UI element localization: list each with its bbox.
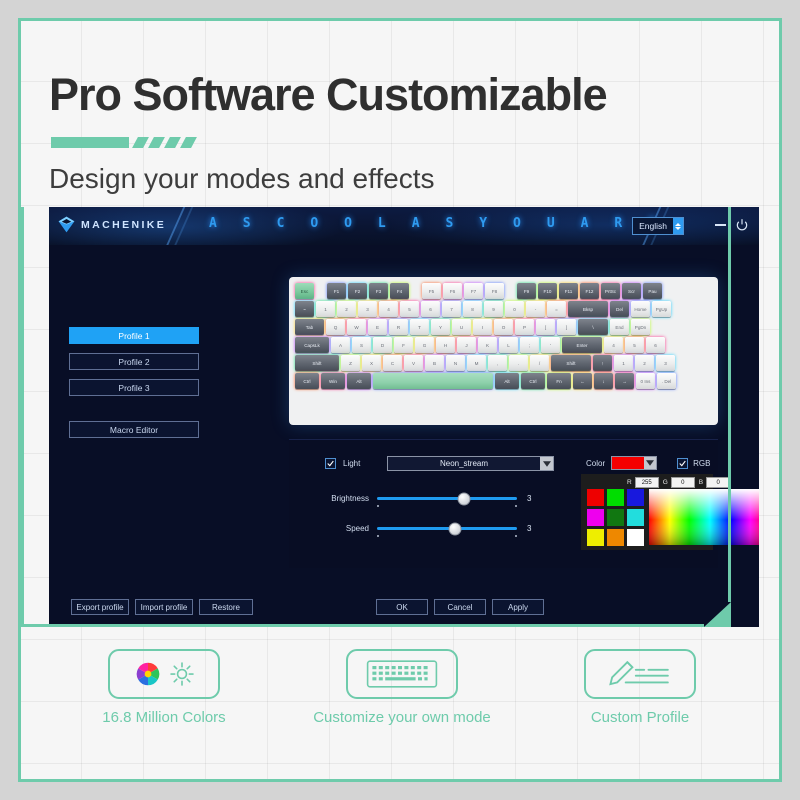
slogan-letter: S [445,216,456,231]
effect-mode-value: Neon_stream [388,459,540,468]
keyboard-key[interactable]: F2 [348,283,367,299]
app-titlebar: MACHENIKE A S C O O L A S Y O U A R E En… [49,207,759,245]
keyboard-row: CtrlWinAltAltCtrlFn←↓→0 Ins. Del [295,373,712,389]
keyboard-key[interactable]: F4 [390,283,409,299]
keyboard-key[interactable]: 0 Ins [636,373,655,389]
keyboard-key[interactable]: ~ [295,301,314,317]
dialog-button-bar: Export profile Import profile Restore OK… [49,587,759,627]
keyboard-key[interactable]: V [404,355,423,371]
keyboard-key[interactable]: ] [557,319,576,335]
feature-custom-mode: Customize your own mode [312,649,492,727]
brand-logo: MACHENIKE [57,215,166,234]
keyboard-key[interactable]: L [499,337,518,353]
speed-value: 3 [527,524,531,533]
color-swatch-0[interactable] [587,489,604,506]
keyboard-key[interactable]: F7 [464,283,483,299]
keyboard-key[interactable]: F12 [580,283,599,299]
keyboard-key[interactable]: Bksp [568,301,608,317]
keyboard-row: ShiftZXCVBNM,./Shift↑123 [295,355,712,371]
feature-custom-profile: Custom Profile [550,649,730,727]
feature-caption: Customize your own mode [312,708,492,727]
speed-label: Speed [311,524,369,533]
check-icon [327,460,334,467]
keyboard-key[interactable]: 4 [379,301,398,317]
keyboard-key[interactable]: P [515,319,534,335]
brightness-slider-row[interactable]: Brightness 3 [311,494,531,503]
keyboard-key[interactable]: Esc [295,283,314,299]
speed-slider-row[interactable]: Speed 3 [311,524,531,533]
keyboard-key[interactable]: Y [431,319,450,335]
apply-button[interactable]: Apply [492,599,544,615]
keyboard-key[interactable]: 5 [400,301,419,317]
restore-button[interactable]: Restore [199,599,253,615]
keyboard-key[interactable]: C [383,355,402,371]
b-label: B [699,479,703,486]
keyboard-preview[interactable]: EscF1F2F3F4F5F6F7F8F9F10F11F12PrtScScrPa… [289,277,718,425]
check-icon [679,460,686,467]
accent-divider [51,137,191,148]
keyboard-key[interactable]: X [362,355,381,371]
r-label: R [627,479,632,486]
keyboard-key[interactable]: N [446,355,465,371]
keyboard-key[interactable]: Del [610,301,629,317]
keyboard-row: CapsLkASDFGHJKL;'Enter456 [295,337,712,353]
keyboard-key[interactable]: ← [573,373,592,389]
slogan-letter: A [209,216,220,231]
keyboard-key[interactable]: H [436,337,455,353]
keyboard-key[interactable]: CapsLk [295,337,329,353]
keyboard-key[interactable]: F8 [485,283,504,299]
keyboard-key[interactable]: R [389,319,408,335]
keyboard-key[interactable]: 1 [614,355,633,371]
keyboard-key[interactable]: U [452,319,471,335]
color-swatch-7[interactable] [607,529,624,546]
keyboard-key[interactable]: . Del [657,373,676,389]
slogan-letter: S [243,216,254,231]
keyboard-key[interactable]: F5 [422,283,441,299]
keyboard-row: EscF1F2F3F4F5F6F7F8F9F10F11F12PrtScScrPa… [295,283,712,299]
keyboard-key[interactable]: ↑ [593,355,612,371]
rgb-checkbox[interactable] [677,458,688,469]
color-wheel-icon [133,659,163,689]
keyboard-key[interactable]: F9 [517,283,536,299]
pencil-profile-icon [602,657,678,691]
feature-caption: Custom Profile [550,708,730,727]
slogan-letter: L [378,216,389,231]
page-subtitle: Design your modes and effects [49,163,434,195]
keyboard-key[interactable]: . [509,355,528,371]
keyboard-key[interactable]: Enter [562,337,602,353]
keyboard-key[interactable]: 1 [316,301,335,317]
keyboard-key[interactable]: Q [326,319,345,335]
keyboard-key[interactable]: J [457,337,476,353]
keyboard-key[interactable]: \ [578,319,608,335]
g-label: G [663,479,668,486]
keyboard-key[interactable]: 2 [635,355,654,371]
color-swatch-grid[interactable] [587,489,644,546]
keyboard-key[interactable]: 6 [646,337,665,353]
speed-ticks [377,533,517,538]
import-profile-button[interactable]: Import profile [135,599,193,615]
keyboard-key[interactable]: End [610,319,629,335]
keyboard-key[interactable]: Home [631,301,650,317]
color-label: Color [586,459,605,468]
poster-frame: Pro Software Customizable Design your mo… [18,18,782,782]
keyboard-key[interactable]: A [331,337,350,353]
keyboard-key[interactable]: ' [541,337,560,353]
keyboard-key[interactable]: / [530,355,549,371]
keyboard-key[interactable]: F6 [443,283,462,299]
brightness-track[interactable] [377,497,517,500]
keyboard-key[interactable]: 6 [421,301,440,317]
keyboard-key[interactable]: Ctrl [521,373,545,389]
slogan-letter: O [513,216,524,231]
g-input[interactable]: 0 [671,477,695,488]
rgb-label: RGB [693,459,710,468]
keyboard-key[interactable]: W [347,319,366,335]
lighting-settings-panel: Light Neon_stream Brightness 3 Speed [289,439,718,568]
keyboard-key[interactable]: F1 [327,283,346,299]
keyboard-key[interactable]: Ctrl [295,373,319,389]
color-gradient-field[interactable] [649,489,759,545]
keyboard-key[interactable]: O [494,319,513,335]
brightness-label: Brightness [311,494,369,503]
keyboard-gap [506,283,515,299]
brightness-ticks [377,503,517,508]
keyboard-key[interactable]: Z [341,355,360,371]
feature-icon-card [108,649,220,699]
keyboard-key[interactable]: 3 [656,355,675,371]
language-spinner-icon[interactable] [673,218,683,234]
keyboard-key[interactable]: PgDn [631,319,650,335]
keyboard-key[interactable]: - [526,301,545,317]
window-controls [715,218,749,232]
keyboard-key[interactable]: K [478,337,497,353]
r-input[interactable]: 255 [635,477,659,488]
export-profile-button[interactable]: Export profile [71,599,129,615]
window-edge-bottom [21,624,704,627]
keyboard-key[interactable]: 9 [484,301,503,317]
keyboard-key[interactable]: , [488,355,507,371]
slogan-letter: C [277,216,288,231]
keyboard-key[interactable]: = [547,301,566,317]
language-select[interactable]: English [632,217,684,235]
brand-name: MACHENIKE [81,219,166,231]
keyboard-key[interactable]: 0 [505,301,524,317]
slogan-letter: O [310,216,321,231]
keyboard-gap [316,283,325,299]
keyboard-key[interactable]: ↓ [594,373,613,389]
slogan-letter: O [344,216,355,231]
light-checkbox[interactable] [325,458,336,469]
keyboard-key[interactable]: 3 [358,301,377,317]
color-swatch-5[interactable] [627,509,644,526]
keyboard-key[interactable]: 5 [625,337,644,353]
ok-button[interactable]: OK [376,599,428,615]
light-toggle[interactable]: Light [325,458,360,469]
window-edge-left [21,207,24,627]
keyboard-key[interactable]: Fn [547,373,571,389]
keyboard-key[interactable]: 7 [442,301,461,317]
machenike-diamond-logo-icon [57,215,76,234]
color-swatch-6[interactable] [587,529,604,546]
color-swatch-4[interactable] [607,509,624,526]
brightness-value: 3 [527,494,531,503]
color-header: Color RGB [586,456,710,470]
color-picker[interactable]: R 255 G 0 B 0 [581,474,713,550]
keyboard-key[interactable]: [ [536,319,555,335]
software-window: MACHENIKE A S C O O L A S Y O U A R E En… [49,207,759,627]
power-icon[interactable] [735,218,749,232]
chevron-down-icon[interactable] [540,457,553,470]
keyboard-key[interactable]: T [410,319,429,335]
slogan-letter: Y [479,216,490,231]
light-label: Light [343,459,360,468]
effect-mode-select[interactable]: Neon_stream [387,456,554,471]
keyboard-key[interactable]: Shift [551,355,591,371]
color-swatch-3[interactable] [587,509,604,526]
keyboard-key[interactable]: 8 [463,301,482,317]
profile-button-1[interactable]: Profile 1 [69,327,199,344]
keyboard-key[interactable]: G [415,337,434,353]
feature-list: 16.8 Million Colors [49,649,755,727]
window-edge-right [728,207,731,602]
keyboard-key[interactable]: Tab [295,319,324,335]
profile-button-2[interactable]: Profile 2 [69,353,199,370]
keyboard-key[interactable]: Pau [643,283,662,299]
keyboard-layout[interactable]: EscF1F2F3F4F5F6F7F8F9F10F11F12PrtScScrPa… [295,283,712,419]
keyboard-key[interactable]: F11 [559,283,578,299]
feature-icon-card [346,649,458,699]
color-select[interactable] [611,456,657,470]
keyboard-key[interactable]: PrtSc [601,283,620,299]
keyboard-key[interactable]: Alt [495,373,519,389]
keyboard-key[interactable]: → [615,373,634,389]
keyboard-key[interactable]: S [352,337,371,353]
chevron-down-icon[interactable] [644,457,656,469]
minimize-icon[interactable] [715,224,726,226]
b-input[interactable]: 0 [706,477,730,488]
keyboard-key[interactable]: F [394,337,413,353]
feature-icon-card [584,649,696,699]
profile-button-3[interactable]: Profile 3 [69,379,199,396]
speed-track[interactable] [377,527,517,530]
keyboard-key[interactable]: F3 [369,283,388,299]
keyboard-row: ~1234567890-=BkspDelHomePgUp [295,301,712,317]
keyboard-key[interactable]: Alt [347,373,371,389]
keyboard-gap [411,283,420,299]
keyboard-key[interactable]: M [467,355,486,371]
keyboard-key[interactable]: F10 [538,283,557,299]
color-swatch-1[interactable] [607,489,624,506]
keyboard-key[interactable]: E [368,319,387,335]
keyboard-icon [366,658,438,690]
brightness-sun-icon [169,661,195,687]
keyboard-key[interactable]: PgUp [652,301,671,317]
slogan-letter: A [412,216,423,231]
color-swatch-2[interactable] [627,489,644,506]
color-swatch-current [612,457,644,469]
keyboard-key[interactable]: Scr [622,283,641,299]
app-slogan: A S C O O L A S Y O U A R E [209,216,659,231]
keyboard-key[interactable]: I [473,319,492,335]
keyboard-row: TabQWERTYUIOP[]\EndPgDn [295,319,712,335]
keyboard-key[interactable]: ; [520,337,539,353]
page-title: Pro Software Customizable [49,69,607,121]
feature-colors: 16.8 Million Colors [74,649,254,727]
keyboard-key[interactable]: 4 [604,337,623,353]
feature-caption: 16.8 Million Colors [74,708,254,727]
language-value: English [633,218,673,234]
cancel-button[interactable]: Cancel [434,599,486,615]
slogan-letter: R [614,216,625,231]
color-swatch-8[interactable] [627,529,644,546]
keyboard-key[interactable]: Win [321,373,345,389]
rgb-inputs: R 255 G 0 B 0 [627,477,730,488]
keyboard-key[interactable]: Shift [295,355,339,371]
keyboard-key[interactable] [373,373,493,389]
slogan-letter: A [581,216,592,231]
keyboard-key[interactable]: D [373,337,392,353]
keyboard-key[interactable]: B [425,355,444,371]
macro-editor-button[interactable]: Macro Editor [69,421,199,438]
keyboard-key[interactable]: 2 [337,301,356,317]
slogan-letter: U [547,216,558,231]
profile-rail: Profile 1 Profile 2 Profile 3 Macro Edit… [69,327,199,438]
rgb-toggle[interactable]: RGB [677,458,710,469]
